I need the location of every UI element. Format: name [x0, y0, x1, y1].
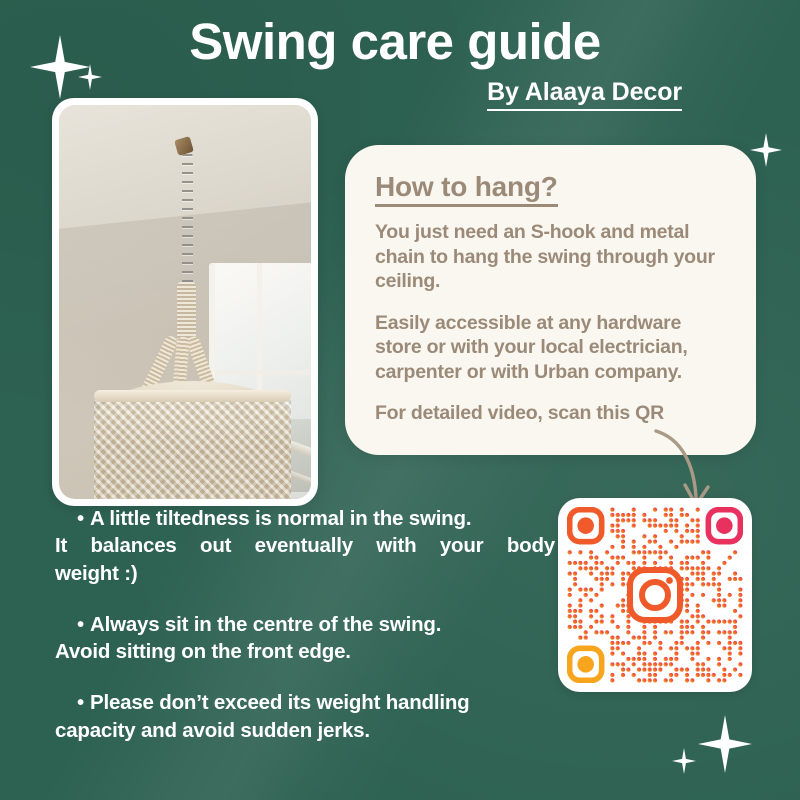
- tip-text: Always sit in the centre of the swing.: [90, 613, 441, 636]
- tip-line: Avoid sitting on the front edge.: [55, 638, 555, 665]
- sparkle-icon: [698, 715, 752, 773]
- qr-modules: [567, 507, 743, 683]
- bullet-icon: •: [77, 691, 84, 714]
- tip-text: A little tiltedness is normal in the swi…: [90, 507, 471, 530]
- tip-item: •Always sit in the centre of the swing. …: [55, 611, 555, 666]
- sparkle-icon: [750, 133, 782, 167]
- bullet-icon: •: [77, 507, 84, 530]
- tips-list: •A little tiltedness is normal in the sw…: [55, 505, 555, 744]
- how-to-hang-card: How to hang? You just need an S-hook and…: [345, 145, 756, 455]
- sparkle-icon: [672, 748, 696, 774]
- tip-line: •Always sit in the centre of the swing.: [55, 611, 555, 638]
- qr-svg: [567, 507, 743, 683]
- card-heading: How to hang?: [375, 171, 558, 207]
- tip-line: •A little tiltedness is normal in the sw…: [55, 505, 555, 532]
- tip-item: •A little tiltedness is normal in the sw…: [55, 505, 555, 587]
- tip-line: weight :): [55, 560, 555, 587]
- tip-line: capacity and avoid sudden jerks.: [55, 717, 555, 744]
- instagram-qr-code[interactable]: [558, 498, 752, 692]
- card-paragraph-1: You just need an S-hook and metal chain …: [375, 220, 726, 294]
- card-paragraph-2: Easily accessible at any hardware store …: [375, 311, 726, 385]
- byline-block: By Alaaya Decor: [487, 78, 682, 111]
- swing-photo: [52, 98, 318, 506]
- swing-photo-image: [59, 105, 311, 499]
- tip-text: Please don’t exceed its weight handling: [90, 691, 470, 714]
- page-title: Swing care guide: [0, 14, 790, 69]
- metal-chain: [182, 152, 193, 286]
- title-block: Swing care guide: [0, 14, 790, 69]
- bullet-icon: •: [77, 613, 84, 636]
- tip-item: •Please don’t exceed its weight handling…: [55, 689, 555, 744]
- byline: By Alaaya Decor: [487, 78, 682, 111]
- macrame-seat: [94, 381, 291, 499]
- card-paragraph-3: For detailed video, scan this QR: [375, 401, 726, 426]
- tip-line: It balances out eventually with your bod…: [55, 532, 555, 559]
- tip-line: •Please don’t exceed its weight handling: [55, 689, 555, 716]
- poster-canvas: Swing care guide By Alaaya Decor How to …: [0, 0, 800, 800]
- instagram-icon: [630, 570, 680, 620]
